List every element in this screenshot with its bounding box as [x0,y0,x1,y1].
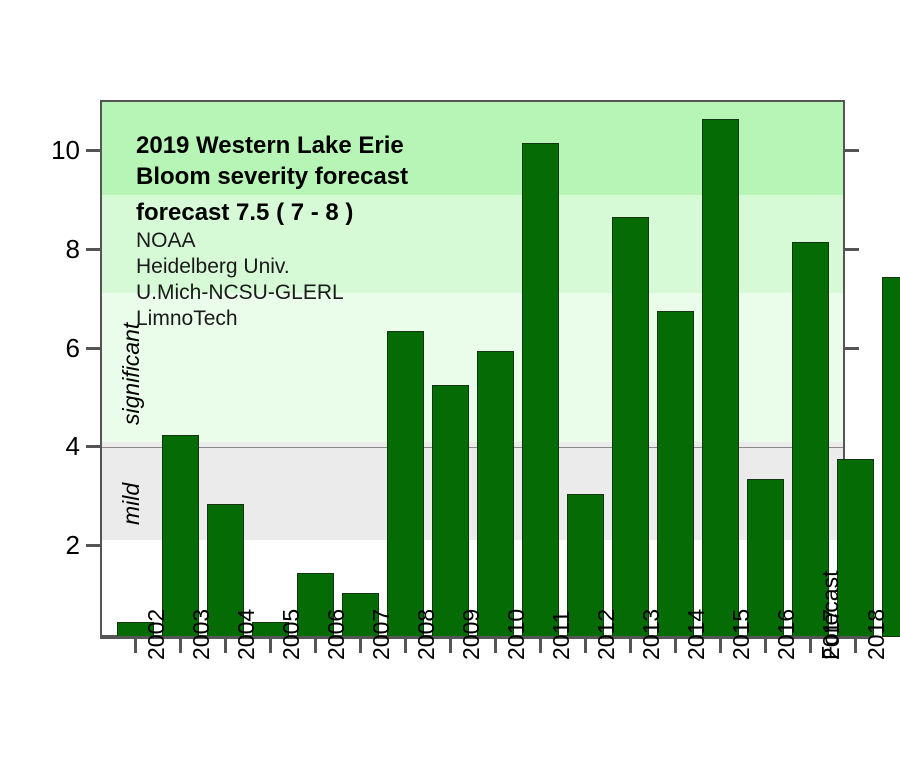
x-tick-label-2014: 2014 [685,609,708,660]
x-tick-label-2009: 2009 [460,609,483,660]
x-tick-label-2004: 2004 [235,609,258,660]
x-tick-label-2015: 2015 [730,609,753,660]
bar-2019 [882,277,900,637]
y-tick-label-8: 8 [20,236,80,262]
bar-2013 [612,217,649,637]
x-tick-label-2006: 2006 [325,609,348,660]
x-tick-2011 [539,639,542,653]
bloom-severity-chart: significant mild 2019 Western Lake Erie … [0,0,900,771]
bar-2003 [162,435,199,637]
y-tick-label-6: 6 [20,335,80,361]
x-tick-2012 [584,639,587,653]
x-tick-label-2011: 2011 [550,611,573,660]
y-tick-2 [86,544,100,547]
x-tick-label-2010: 2010 [505,609,528,660]
x-tick-2004 [224,639,227,653]
x-tick-label-2002: 2002 [145,609,168,660]
x-tick-2013 [629,639,632,653]
x-tick-2005 [269,639,272,653]
x-tick-2016 [764,639,767,653]
bar-2011 [522,143,559,637]
bar-2010 [477,351,514,637]
y-tick-8 [86,248,100,251]
x-tick-label-2012: 2012 [595,609,618,660]
x-tick-label-2007: 2007 [370,609,393,660]
x-tick-label-2003: 2003 [190,609,213,660]
x-tick-2007 [359,639,362,653]
y-tick-label-4: 4 [20,433,80,459]
right-tick-6 [845,347,859,350]
x-tick-2009 [449,639,452,653]
bar-2014 [657,311,694,637]
x-tick-label-2013: 2013 [640,609,663,660]
x-tick-2015 [719,639,722,653]
x-tick-label-2016: 2016 [775,609,798,660]
x-axis-line [100,636,870,639]
right-tick-8 [845,248,859,251]
bar-2009 [432,385,469,637]
y-tick-10 [86,149,100,152]
x-tick-label-2008: 2008 [415,609,438,660]
x-tick-label-2018: 2018 [865,609,888,660]
y-tick-4 [86,445,100,448]
x-tick-2018 [854,639,857,653]
x-tick-2017 [809,639,812,653]
x-tick-label-forecast: Forecast [819,571,842,660]
right-tick-10 [845,149,859,152]
x-tick-2006 [314,639,317,653]
y-tick-label-2: 2 [20,532,80,558]
x-tick-label-2005: 2005 [280,609,303,660]
y-tick-6 [86,347,100,350]
y-tick-label-10: 10 [20,137,80,163]
x-tick-2008 [404,639,407,653]
x-tick-2014 [674,639,677,653]
x-tick-2002 [134,639,137,653]
bar-2015 [702,119,739,637]
bars-layer [100,100,845,637]
x-tick-2010 [494,639,497,653]
x-tick-2003 [179,639,182,653]
bar-2008 [387,331,424,637]
